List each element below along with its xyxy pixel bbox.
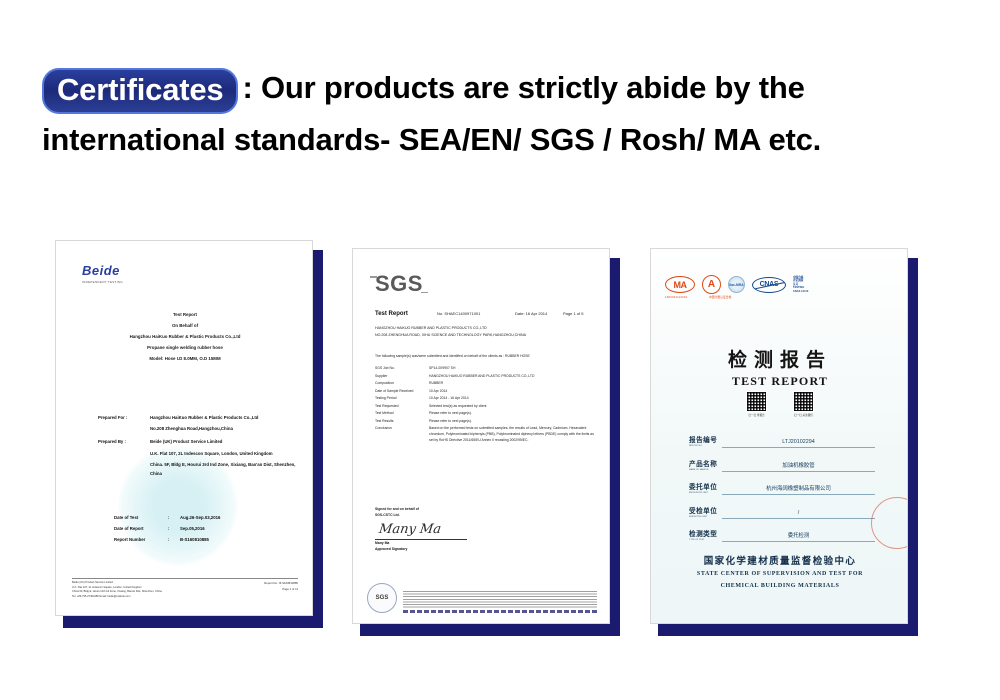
row-value: RUBBER — [429, 380, 595, 386]
report-number-sep: : — [168, 535, 180, 544]
beide-logo: Beide INDEPENDENT TESTING — [82, 263, 123, 284]
row-value: Please refer to next page(s). — [429, 418, 595, 424]
form-label: 检测类型 TYPE OF TEST — [689, 531, 722, 542]
row-key: Composition — [375, 380, 429, 386]
prepared-by-address1-row: U.K. Flat 107, 2L Indescon Square, Londo… — [98, 449, 298, 458]
table-row: Test Method Please refer to next page(s)… — [375, 410, 595, 416]
form-label-en: TYPE OF TEST — [689, 539, 722, 542]
sign-lead-line-2: SGS-CSTC Ltd. — [375, 513, 515, 519]
row-key: Date of Sample Received — [375, 388, 429, 394]
ma-logo-icon: MA — [665, 276, 695, 293]
beide-logo-subtitle: INDEPENDENT TESTING — [82, 280, 123, 284]
prepared-for-label: Prepared For : — [98, 413, 150, 422]
qr-code-group: 扫一扫 查报告 扫一扫 关注我们 — [651, 391, 908, 417]
sgs-details-table: SGS Job No. SP14-009907 SH Supplier HANG… — [375, 365, 595, 445]
date-of-test-row: Date of Test : Aug.26-Sep.03,2016 — [114, 513, 220, 522]
row-key: Test Requested — [375, 403, 429, 409]
fineprint-contact-line — [403, 610, 597, 613]
signatory-title: Approved Signatory — [375, 547, 515, 553]
form-row: 委托单位 ENTRUSTED UNIT 杭州海阔橡塑制品有限公司 — [689, 484, 875, 495]
footer-page-number: Page 1 of 11 — [264, 587, 298, 593]
cnas-line-5: CNAS L0110 — [793, 290, 808, 294]
form-label: 报告编号 REPORT NO. — [689, 437, 722, 448]
fineprint-paragraph — [403, 591, 597, 609]
row-key: Test Method — [375, 410, 429, 416]
row-value: SP14-009907 SH — [429, 365, 595, 371]
table-row: SGS Job No. SP14-009907 SH — [375, 365, 595, 371]
row-value: Selected test(s) as requested by client — [429, 403, 595, 409]
report-number-row: Report Number : B-S160810885 — [114, 535, 220, 544]
prepared-for-value: Hangzhou HaiKuo Rubber & Plastic Product… — [150, 413, 298, 422]
qr-left-wrap: 扫一扫 查报告 — [746, 391, 767, 417]
form-label: 委托单位 ENTRUSTED UNIT — [689, 484, 722, 495]
table-row: Test Results Please refer to next page(s… — [375, 418, 595, 424]
row-key: SGS Job No. — [375, 365, 429, 371]
beide-center-block: Test Report On Behalf of Hangzhou HaiKuo… — [56, 309, 313, 364]
authority-chinese: 国家化学建材质量监督检验中心 — [651, 553, 908, 567]
a-logo-icon: A — [702, 275, 721, 294]
sgs-signature-block: Signed for and on behalf of SGS-CSTC Ltd… — [375, 507, 515, 552]
ma-form-fields: 报告编号 REPORT NO. LTJ20102294 产品名称 NAME OF… — [689, 437, 875, 555]
prepared-by-address2-row: China. 5F, Bldg E, Hourui 3rd Ind Zone, … — [98, 460, 298, 478]
table-row: Date of Sample Received 10 Apr 2014 — [375, 388, 595, 394]
date-of-test-label: Date of Test — [114, 513, 168, 522]
beide-logo-text: Beide — [82, 263, 120, 278]
report-number-label: Report Number — [114, 535, 168, 544]
row-key: Supplier — [375, 373, 429, 379]
cnas-side-text: 中国合格 评定国家 认可 TESTING CNAS L0110 — [793, 276, 808, 294]
row-value: Please refer to next page(s). — [429, 410, 595, 416]
sgs-intro-text: The following sample(s) was/were submitt… — [375, 353, 595, 359]
prepared-by-value: Beide (UK) Product Service Limited — [150, 437, 298, 446]
cnas-logo-icon: CNAS — [752, 277, 786, 293]
row-key: Conclusion — [375, 425, 429, 443]
beide-product: Propane single welding rubber hose — [56, 342, 313, 353]
sgs-report-header: Test Report No. SHAEC1400971001 Date: 16… — [375, 311, 593, 317]
date-of-report-value: Sep.05,2016 — [180, 524, 220, 533]
signature-rule — [375, 539, 467, 540]
form-value: 委托检测 — [722, 532, 875, 542]
date-of-report-sep: : — [168, 524, 180, 533]
beide-footer: Beide (UK) Product Service Limited U.K. … — [72, 578, 298, 599]
table-row: Composition RUBBER — [375, 380, 595, 386]
qr-code-icon[interactable] — [793, 391, 814, 412]
certificate-page-ma-cnas: MA A ilac-MRA CNAS 中国合格 评定国家 认可 TESTING … — [650, 248, 908, 624]
footer-line-3: China 5F, Bldg E, Hourui 3rd Ind Zone, X… — [72, 590, 162, 594]
row-key: Test Results — [375, 418, 429, 424]
row-value: 10 Apr 2014 — [429, 388, 595, 394]
certificates-gallery: Beide INDEPENDENT TESTING Test Report On… — [0, 0, 1000, 700]
date-of-test-value: Aug.26-Sep.03,2016 — [180, 513, 220, 522]
beide-title: Test Report — [56, 309, 313, 320]
beide-model: Model: Hose I.D 8.0MM, O.D 15MM — [56, 353, 313, 364]
beide-company: Hangzhou HaiKuo Rubber & Plastic Product… — [56, 331, 313, 342]
footer-line-4: Tel: +86-755-27464486 Email: beide@outlo… — [72, 595, 162, 599]
form-row: 受检单位 INSPECTED UNIT / — [689, 508, 875, 519]
form-label-cn: 检测类型 — [689, 531, 722, 539]
beide-footer-address: Beide (UK) Product Service Limited U.K. … — [72, 581, 162, 599]
qr-code-icon[interactable] — [746, 391, 767, 412]
certificate-card-ma-cnas[interactable]: MA A ilac-MRA CNAS 中国合格 评定国家 认可 TESTING … — [650, 248, 918, 636]
certificate-page-sgs: SGS Test Report No. SHAEC1400971001 Date… — [352, 248, 610, 624]
prepared-for-row: Prepared For : Hangzhou HaiKuo Rubber & … — [98, 413, 298, 422]
form-value: / — [722, 509, 875, 519]
ma-issuing-authority: 国家化学建材质量监督检验中心 STATE CENTER OF SUPERVISI… — [651, 553, 908, 591]
qr-right-caption: 扫一扫 关注我们 — [793, 413, 814, 417]
authority-english-line-2: CHEMICAL BUILDING MATERIALS — [651, 581, 908, 591]
ma-certificate-caption: 中国计量认证合格 — [709, 295, 731, 299]
prepared-by-label: Prepared By : — [98, 437, 150, 446]
sgs-seal-icon: SGS — [367, 583, 397, 613]
beide-dates-block: Date of Test : Aug.26-Sep.03,2016 Date o… — [114, 513, 220, 546]
qr-right-wrap: 扫一扫 关注我们 — [793, 391, 814, 417]
authority-english-line-1: STATE CENTER OF SUPERVISION AND TEST FOR — [651, 569, 908, 579]
row-value: 10 Apr 2014 - 16 Apr 2014 — [429, 395, 595, 401]
table-row: Testing Period 10 Apr 2014 - 16 Apr 2014 — [375, 395, 595, 401]
sgs-footer: SGS — [367, 583, 597, 613]
ma-certificate-code: 1900021112001 — [665, 295, 687, 299]
form-label-en: REPORT NO. — [689, 445, 722, 448]
form-label-cn: 委托单位 — [689, 484, 722, 492]
prepared-for-address-row: No.208 Zhenghua Road,Hangzhou,China — [98, 424, 298, 433]
sgs-report-no: No. SHAEC1400971001 — [437, 311, 515, 317]
form-row: 检测类型 TYPE OF TEST 委托检测 — [689, 531, 875, 542]
beide-on-behalf: On Behalf of — [56, 320, 313, 331]
sgs-footer-fineprint — [403, 591, 597, 614]
certificate-card-sgs[interactable]: SGS Test Report No. SHAEC1400971001 Date… — [352, 248, 620, 636]
date-of-report-label: Date of Report — [114, 524, 168, 533]
title-english: TEST REPORT — [651, 374, 908, 389]
spacer — [98, 460, 150, 478]
sgs-client-street: NO.208 ZHENGHUA ROAD, XIHU SCIENCE AND T… — [375, 332, 595, 339]
form-label-en: ENTRUSTED UNIT — [689, 492, 722, 495]
form-row: 报告编号 REPORT NO. LTJ20102294 — [689, 437, 875, 448]
title-chinese: 检测报告 — [651, 345, 908, 372]
sgs-seal-text: SGS — [376, 595, 389, 601]
form-label-cn: 产品名称 — [689, 461, 722, 469]
beide-footer-meta: Report No.: B-S160810885 Page 1 of 11 — [264, 581, 298, 599]
form-label-cn: 受检单位 — [689, 508, 722, 516]
form-value: 杭州海阔橡塑制品有限公司 — [722, 485, 875, 495]
ma-report-title: 检测报告 TEST REPORT — [651, 345, 908, 389]
sgs-client-address: HANGZHOU HAIKUO RUBBER AND PLASTIC PRODU… — [375, 325, 595, 338]
qr-left-caption: 扫一扫 查报告 — [746, 413, 767, 417]
handwritten-signature: Many Ma — [378, 522, 442, 537]
date-of-report-row: Date of Report : Sep.05,2016 — [114, 524, 220, 533]
prepared-by-address2: China. 5F, Bldg E, Hourui 3rd Ind Zone, … — [150, 460, 298, 478]
form-row: 产品名称 NAME OF SAMPLE 加油机橡胶管 — [689, 461, 875, 472]
accreditation-logos: MA A ilac-MRA CNAS 中国合格 评定国家 认可 TESTING … — [665, 275, 895, 294]
sgs-report-date: Date: 16 Apr 2014 — [515, 311, 563, 317]
form-label-en: NAME OF SAMPLE — [689, 469, 722, 472]
date-of-test-sep: : — [168, 513, 180, 522]
prepared-for-address: No.208 Zhenghua Road,Hangzhou,China — [150, 424, 298, 433]
row-value: HANGZHOU HAIKUO RUBBER AND PLASTIC PRODU… — [429, 373, 595, 379]
sgs-page-number: Page 1 of 5 — [563, 311, 583, 317]
ilac-mra-seal-icon: ilac-MRA — [728, 276, 745, 293]
red-official-stamp-icon — [871, 497, 908, 549]
prepared-by-address1: U.K. Flat 107, 2L Indescon Square, Londo… — [150, 449, 298, 458]
row-value: Based on the performed tests on submitte… — [429, 425, 595, 443]
spacer — [98, 449, 150, 458]
row-key: Testing Period — [375, 395, 429, 401]
form-label-en: INSPECTED UNIT — [689, 516, 722, 519]
table-row: Test Requested Selected test(s) as reque… — [375, 403, 595, 409]
sgs-title: Test Report — [375, 311, 437, 317]
table-row: Supplier HANGZHOU HAIKUO RUBBER AND PLAS… — [375, 373, 595, 379]
spacer — [98, 424, 150, 433]
table-row: Conclusion Based on the performed tests … — [375, 425, 595, 443]
beide-prepared-block: Prepared For : Hangzhou HaiKuo Rubber & … — [98, 413, 298, 480]
certificate-page-beide: Beide INDEPENDENT TESTING Test Report On… — [55, 240, 313, 616]
certificate-card-beide[interactable]: Beide INDEPENDENT TESTING Test Report On… — [55, 240, 323, 628]
form-label-cn: 报告编号 — [689, 437, 722, 445]
report-number-value: B-S160810885 — [180, 535, 220, 544]
form-label: 受检单位 INSPECTED UNIT — [689, 508, 722, 519]
form-label: 产品名称 NAME OF SAMPLE — [689, 461, 722, 472]
form-value: LTJ20102294 — [722, 438, 875, 448]
form-value: 加油机橡胶管 — [722, 462, 875, 472]
prepared-by-row: Prepared By : Beide (UK) Product Service… — [98, 437, 298, 446]
sgs-logo: SGS — [375, 271, 423, 297]
